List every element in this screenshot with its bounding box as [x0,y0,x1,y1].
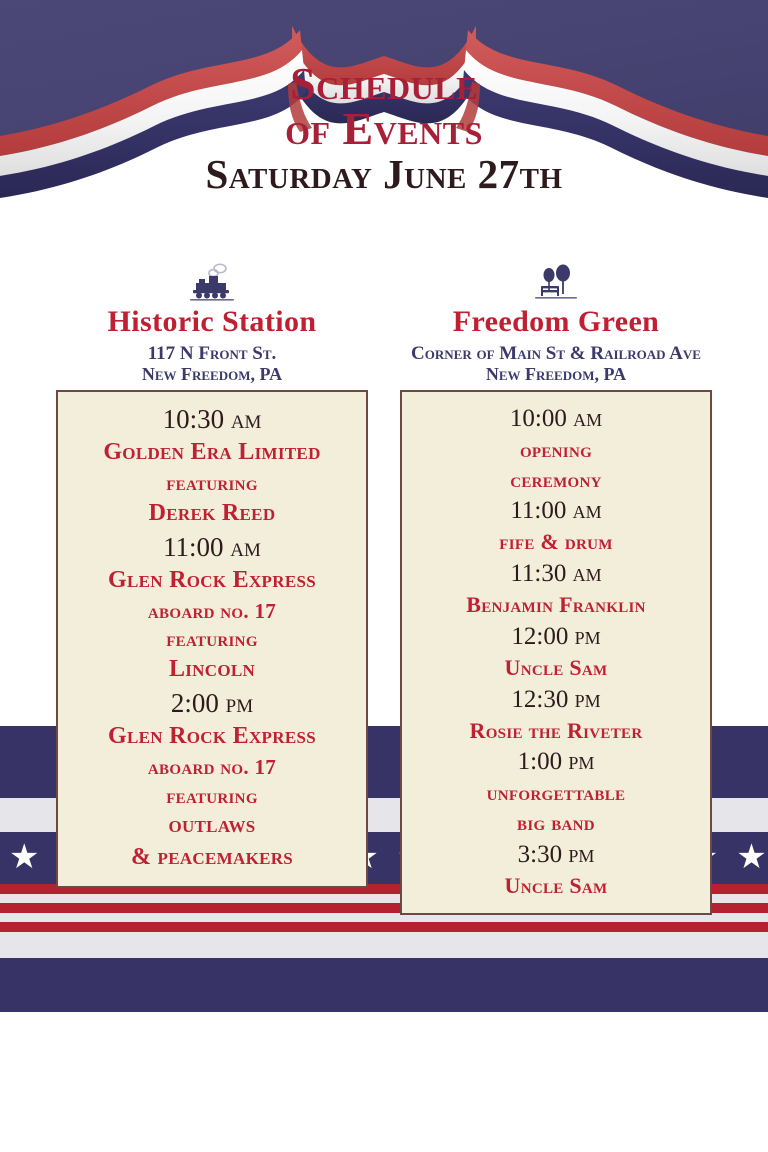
schedule-panel: 10:30 amGolden Era LimitedfeaturingDerek… [56,390,368,888]
schedule-act: featuring [66,625,358,654]
schedule-act: fife & drum [410,527,702,557]
schedule-act: Uncle Sam [410,871,702,901]
schedule-act: opening [410,435,702,465]
poster-title-block: Schedule of Events Saturday June 27th [0,62,768,195]
schedule-act: Benjamin Franklin [410,590,702,620]
schedule-act: Derek Reed [66,498,358,530]
title-line-1: Schedule [0,62,768,105]
schedule-time: 3:30 pm [410,838,702,871]
venue-address: 117 N Front St. New Freedom, PA [56,343,368,384]
schedule-time: 11:00 am [410,494,702,527]
venue-name: Freedom Green [400,306,712,338]
schedule-act: featuring [66,782,358,811]
venue-address: Corner of Main St & Railroad Ave New Fre… [400,343,712,384]
band-light-lower [0,932,768,958]
schedule-time: 2:00 pm [66,686,358,721]
schedule-time: 12:30 pm [410,683,702,716]
schedule-act: Glen Rock Express [66,721,358,753]
venue-address-line-1: 117 N Front St. [56,343,368,364]
schedule-act: & peacemakers [66,842,358,874]
venue-column-historic-station: Historic Station 117 N Front St. New Fre… [56,258,368,915]
schedule-act: Rosie the Riveter [410,716,702,746]
schedule-act: ceremony [410,465,702,495]
venue-name: Historic Station [56,306,368,338]
train-locomotive-icon [56,258,368,302]
schedule-act: aboard no. 17 [66,753,358,782]
band-navy-bottom [0,958,768,1012]
band-stripe-red-3 [0,922,768,932]
schedule-act: outlaws [66,810,358,842]
schedule-time: 10:00 am [410,402,702,435]
schedule-time: 1:00 pm [410,745,702,778]
schedule-act: Uncle Sam [410,653,702,683]
event-schedule-poster: Schedule of Events Saturday June 27th ★★… [0,0,768,1152]
schedule-time: 11:00 am [66,530,358,565]
venue-address-line-1: Corner of Main St & Railroad Ave [400,343,712,364]
park-bench-trees-icon [400,258,712,302]
venue-address-line-2: New Freedom, PA [56,364,368,384]
schedule-act: Golden Era Limited [66,437,358,469]
venue-columns: Historic Station 117 N Front St. New Fre… [0,258,768,915]
schedule-act: aboard no. 17 [66,597,358,626]
schedule-act: unforgettable [410,778,702,808]
venue-column-freedom-green: Freedom Green Corner of Main St & Railro… [400,258,712,915]
schedule-act: big band [410,808,702,838]
event-date: Saturday June 27th [0,154,768,195]
venue-address-line-2: New Freedom, PA [400,364,712,384]
schedule-time: 10:30 am [66,402,358,437]
schedule-time: 12:00 pm [410,620,702,653]
schedule-act: Glen Rock Express [66,565,358,597]
title-line-2: of Events [0,107,768,150]
schedule-time: 11:30 am [410,557,702,590]
schedule-act: featuring [66,469,358,498]
schedule-act: Lincoln [66,654,358,686]
schedule-panel: 10:00 amopeningceremony11:00 amfife & dr… [400,390,712,915]
